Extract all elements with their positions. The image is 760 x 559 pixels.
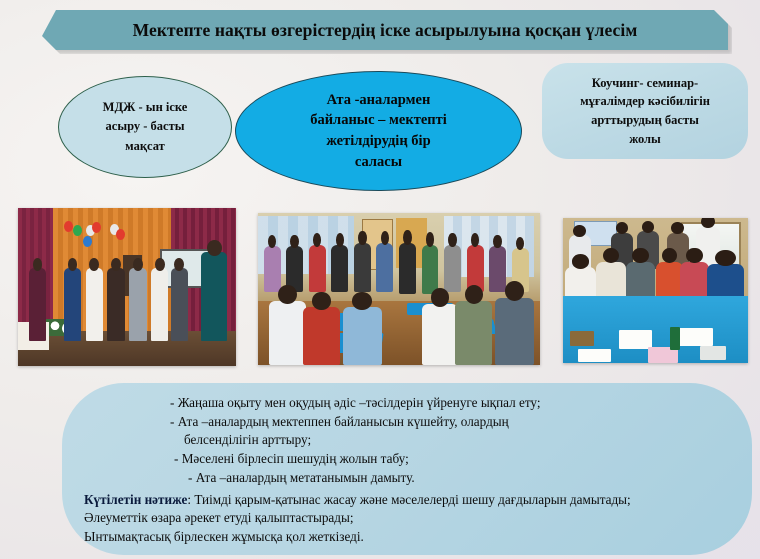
shape-left-ellipse: МДЖ - ын іске асыру - басты мақсат [58,76,232,178]
expected-result-line-1: : Тиімді қарым-қатынас жасау және мәселе… [187,492,630,507]
summary-bullet-2-cont: белсенділігін арттыру; [170,431,736,450]
shape-center-line-2: байланыс – мектепті [310,110,447,131]
photo-classroom-content [258,213,540,365]
summary-bullet-list: - Жаңаша оқыту мен оқудың әдіс –тәсілдер… [84,394,736,488]
shape-right-text: Коучинг- семинар- мұғалімдер кәсібилігін… [572,74,718,149]
shape-center-line-4: саласы [310,152,447,173]
expected-result-line-2: Әлеуметтік өзара әрекет етуді қалыптасты… [84,509,736,528]
shape-right-line-2: мұғалімдер кәсібилігін [580,92,710,111]
shape-center-line-3: жетілдірудің бір [310,131,447,152]
photo-table-content [563,218,748,363]
photo-classroom-circle [258,213,540,365]
shape-left-line-2: асыру - басты [103,117,188,136]
summary-bullet-1: - Жаңаша оқыту мен оқудың әдіс –тәсілдер… [170,394,736,413]
title-banner: Мектепте нақты өзгерістердің іске асырыл… [42,10,728,50]
expected-result-label: Күтілетін нәтиже [84,492,187,507]
shape-right-line-1: Коучинг- семинар- [580,74,710,93]
shape-center-line-1: Ата -аналармен [310,90,447,111]
summary-box: - Жаңаша оқыту мен оқудың әдіс –тәсілдер… [62,383,752,555]
shape-left-line-1: МДЖ - ын іске [103,98,188,117]
shape-right-rounded-rect: Коучинг- семинар- мұғалімдер кәсібилігін… [542,63,748,159]
photo-auditorium-stage [18,208,236,366]
presentation-slide: Мектепте нақты өзгерістердің іске асырыл… [0,0,760,559]
summary-bullet-2: - Ата –аналардың мектеппен байланысын кү… [170,413,736,432]
shape-right-line-4: жолы [580,130,710,149]
photo-table-discussion [563,218,748,363]
shape-right-line-3: арттырудың басты [580,111,710,130]
expected-result-block: Күтілетін нәтиже: Тиімді қарым-қатынас ж… [84,491,736,547]
shape-center-ellipse: Ата -аналармен байланыс – мектепті жетіл… [235,71,522,191]
expected-result-line-3: Ынтымақтасық бірлескен жұмысқа қол жеткі… [84,528,736,547]
expected-result-first-line: Күтілетін нәтиже: Тиімді қарым-қатынас ж… [84,491,736,510]
shape-left-line-3: мақсат [103,137,188,156]
shape-left-ellipse-text: МДЖ - ын іске асыру - басты мақсат [91,98,200,156]
photo-auditorium-content [18,208,236,366]
shape-center-ellipse-text: Ата -аналармен байланыс – мектепті жетіл… [284,90,473,172]
summary-bullet-4: - Ата –аналардың метатанымын дамыту. [170,469,736,488]
summary-bullet-3: - Мәселені бірлесіп шешудің жолын табу; [170,450,736,469]
page-title: Мектепте нақты өзгерістердің іске асырыл… [133,20,638,41]
